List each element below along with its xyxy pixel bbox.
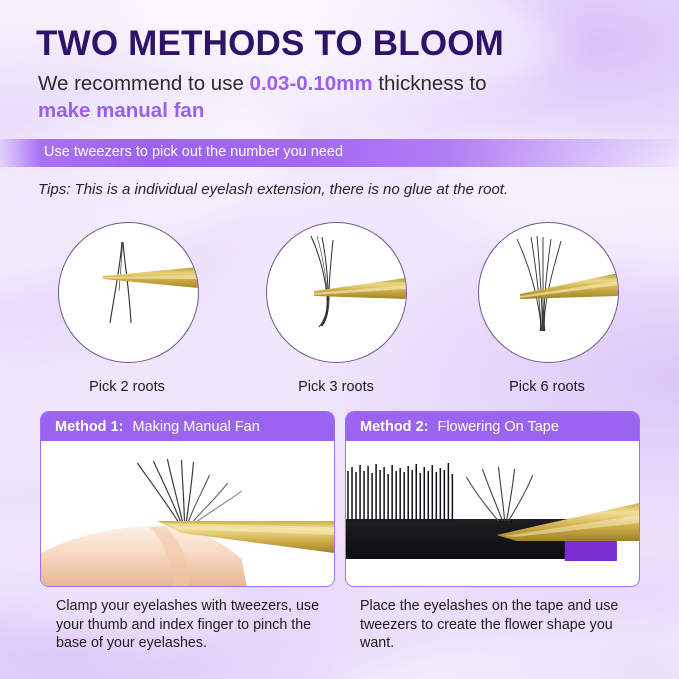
tweezers-lash-icon <box>59 223 198 362</box>
subtitle: We recommend to use 0.03-0.10mm thicknes… <box>38 70 638 124</box>
circle-pick-6-roots <box>478 222 619 363</box>
subtitle-thickness-value: 0.03-0.10mm <box>250 72 373 95</box>
method-2-description: Place the eyelashes on the tape and use … <box>360 597 650 653</box>
tweezers-lash-icon <box>479 223 618 362</box>
caption-pick-6-roots: Pick 6 roots <box>467 379 627 395</box>
instruction-banner-label: Use tweezers to pick out the number you … <box>44 144 343 160</box>
method-1-panel: Method 1: Making Manual Fan <box>40 411 335 587</box>
subtitle-text-pre: We recommend to use <box>38 72 250 95</box>
circle-pick-3-roots <box>266 222 407 363</box>
method-1-header: Method 1: Making Manual Fan <box>41 412 334 441</box>
lash-strip-on-tape-photo <box>346 441 639 586</box>
method-2-label: Method 2: <box>360 419 428 435</box>
method-2-header: Method 2: Flowering On Tape <box>346 412 639 441</box>
tweezers-lash-icon <box>267 223 406 362</box>
method-1-photo <box>41 441 334 586</box>
method-1-name: Making Manual Fan <box>132 419 259 435</box>
hand-pinching-fan-photo <box>41 441 334 586</box>
method-2-name: Flowering On Tape <box>437 419 558 435</box>
subtitle-highlight: make manual fan <box>38 99 204 122</box>
method-2-panel: Method 2: Flowering On Tape <box>345 411 640 587</box>
caption-pick-2-roots: Pick 2 roots <box>47 379 207 395</box>
page-title: TWO METHODS TO BLOOM <box>36 24 504 64</box>
caption-pick-3-roots: Pick 3 roots <box>256 379 416 395</box>
method-1-description: Clamp your eyelashes with tweezers, use … <box>56 597 346 653</box>
circle-pick-2-roots <box>58 222 199 363</box>
method-1-label: Method 1: <box>55 419 123 435</box>
subtitle-text-mid: thickness to <box>373 72 487 95</box>
method-2-photo <box>346 441 639 586</box>
tips-note: Tips: This is a individual eyelash exten… <box>38 181 508 198</box>
infographic-page: TWO METHODS TO BLOOM We recommend to use… <box>0 0 679 679</box>
